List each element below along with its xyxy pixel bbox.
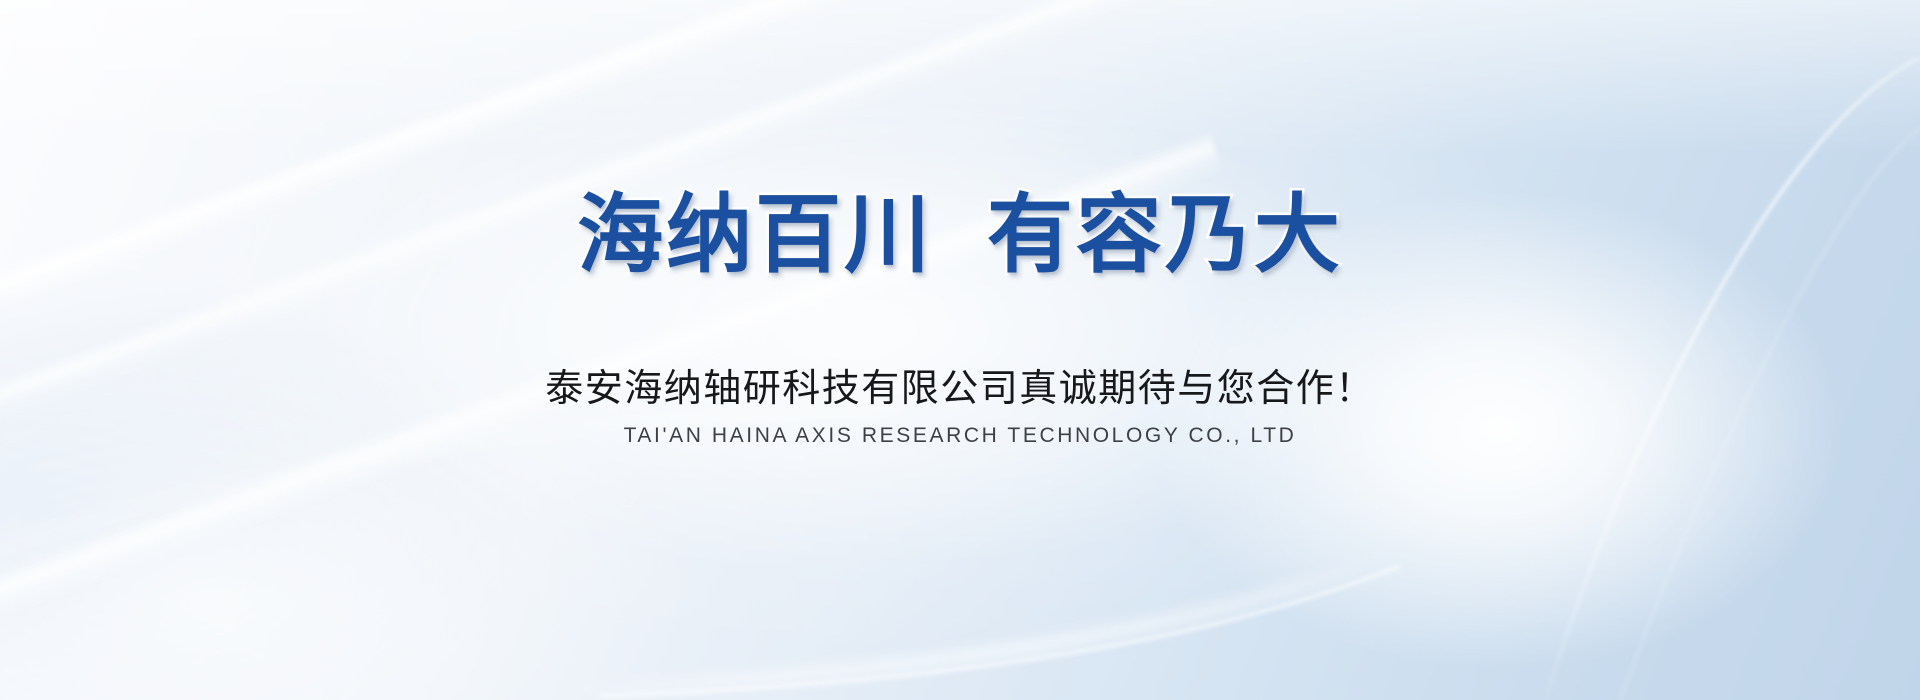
subtitle-chinese: 泰安海纳轴研科技有限公司真诚期待与您合作！ — [545, 357, 1375, 412]
page-title: 海纳百川 有容乃大 — [577, 188, 1343, 283]
subtitle-english: TAI'AN HAINA AXIS RESEARCH TECHNOLOGY CO… — [624, 424, 1297, 448]
hero-banner: 海纳百川 有容乃大 泰安海纳轴研科技有限公司真诚期待与您合作！ TAI'AN H… — [0, 0, 1920, 700]
banner-text-block: 海纳百川 有容乃大 泰安海纳轴研科技有限公司真诚期待与您合作！ TAI'AN H… — [0, 0, 1920, 700]
